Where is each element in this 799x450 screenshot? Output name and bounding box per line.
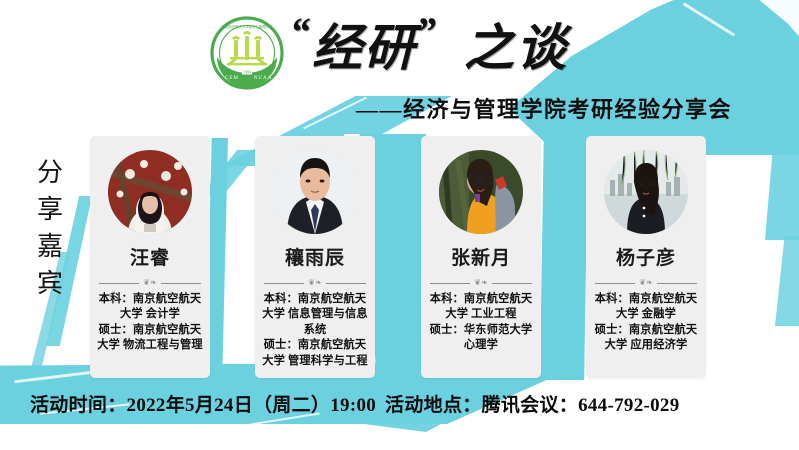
guest-name: 穰雨辰 xyxy=(255,243,375,270)
master-label: 硕士： xyxy=(595,324,629,336)
master-label: 硕士： xyxy=(99,324,133,336)
master-label: 硕士： xyxy=(264,339,298,351)
event-time-label: 活动时间： xyxy=(30,395,127,416)
avatar xyxy=(273,150,357,234)
guest-card: 杨子彦 ❦❧ 本科：南京航空航天大学 金融学 硕士：南京航空航天大学 应用经济学 xyxy=(586,136,706,378)
avatar xyxy=(439,150,523,234)
bachelor-label: 本科： xyxy=(430,293,464,305)
bachelor-label: 本科： xyxy=(595,293,629,305)
guest-education: 本科：南京航空航天大学 工业工程 硕士：华东师范大学 心理学 xyxy=(426,292,536,354)
poster-canvas: 南京航空航天大学经济与管理学院 CEM NUAA 1984 “经研”之谈 ——经… xyxy=(0,0,799,450)
bachelor-value: 南京航空航天大学 金融学 xyxy=(616,293,697,320)
guest-education: 本科：南京航空航天大学 金融学 硕士：南京航空航天大学 应用经济学 xyxy=(591,292,701,354)
ornamental-divider-icon: ❦❧ xyxy=(264,279,366,288)
event-time-value: 2022年5月24日（周二）19:00 xyxy=(127,395,377,416)
bachelor-value: 南京航空航天大学 会计学 xyxy=(120,293,201,320)
guest-card-list: 汪睿 ❦❧ 本科：南京航空航天大学 会计学 硕士：南京航空航天大学 物流工程与管… xyxy=(0,0,799,450)
event-info-bar: 活动时间：2022年5月24日（周二）19:00活动地点：腾讯会议：644-79… xyxy=(30,390,770,416)
guest-name: 杨子彦 xyxy=(586,243,706,270)
guest-name: 汪睿 xyxy=(90,243,210,270)
guest-card: 张新月 ❦❧ 本科：南京航空航天大学 工业工程 硕士：华东师范大学 心理学 xyxy=(421,136,541,378)
event-place-label: 活动地点： xyxy=(385,395,482,416)
master-label: 硕士： xyxy=(430,324,464,336)
guest-card: 穰雨辰 ❦❧ 本科：南京航空航天大学 信息管理与信息系统 硕士：南京航空航天大学… xyxy=(255,136,375,378)
guest-name: 张新月 xyxy=(421,243,541,270)
bachelor-label: 本科： xyxy=(264,293,298,305)
bachelor-label: 本科： xyxy=(99,293,133,305)
master-value: 华东师范大学 心理学 xyxy=(464,324,532,351)
guest-card: 汪睿 ❦❧ 本科：南京航空航天大学 会计学 硕士：南京航空航天大学 物流工程与管… xyxy=(90,136,210,378)
event-place-value: 腾讯会议：644-792-029 xyxy=(482,395,680,416)
ornamental-divider-icon: ❦❧ xyxy=(595,279,697,288)
ornamental-divider-icon: ❦❧ xyxy=(430,279,532,288)
avatar xyxy=(108,150,192,234)
guest-education: 本科：南京航空航天大学 会计学 硕士：南京航空航天大学 物流工程与管理 xyxy=(95,292,205,354)
guest-education: 本科：南京航空航天大学 信息管理与信息系统 硕士：南京航空航天大学 管理科学与工… xyxy=(260,292,370,369)
ornamental-divider-icon: ❦❧ xyxy=(99,279,201,288)
avatar xyxy=(604,150,688,234)
